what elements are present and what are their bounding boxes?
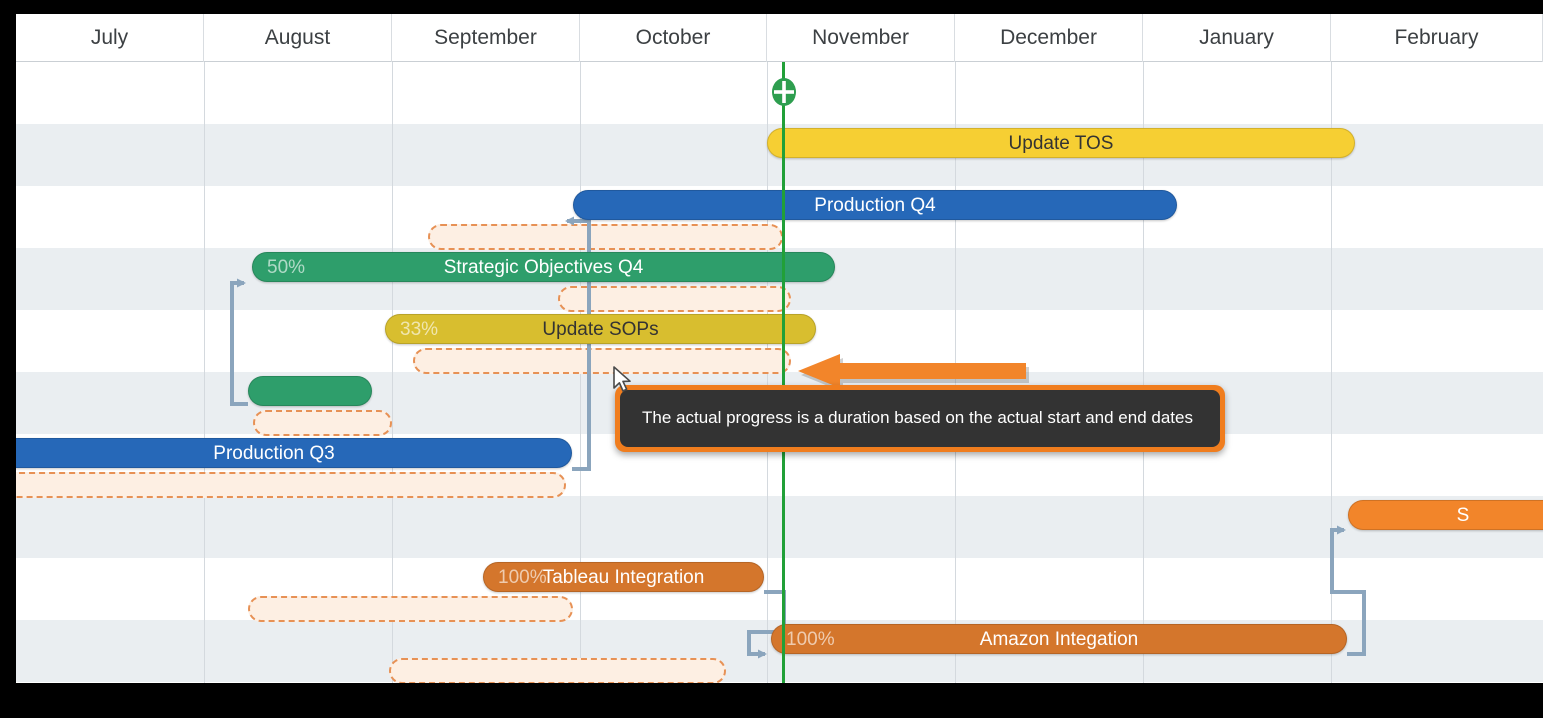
month-header-august[interactable]: August: [204, 14, 392, 62]
task-bar-label: Strategic Objectives Q4: [253, 253, 834, 283]
task-bar-label: S: [1349, 501, 1543, 531]
column-gridline-1: [392, 62, 393, 683]
gantt-grid-body[interactable]: Update TOSProduction Q450%Strategic Obje…: [16, 62, 1543, 683]
baseline-bar[interactable]: [16, 472, 566, 498]
task-bar-production-q3[interactable]: Production Q3: [16, 438, 572, 468]
month-header-january[interactable]: January: [1143, 14, 1331, 62]
progress-label: 100%: [498, 563, 547, 593]
task-bar-amazon-integation[interactable]: 100%Amazon Integation: [771, 624, 1347, 654]
month-header-july[interactable]: July: [16, 14, 204, 62]
progress-label: 50%: [267, 253, 305, 283]
baseline-bar[interactable]: [248, 596, 573, 622]
task-bar-tableau-integration[interactable]: 100%Tableau Integration: [483, 562, 764, 592]
gantt-row[interactable]: [16, 496, 1543, 558]
progress-label: 33%: [400, 315, 438, 345]
today-line: [782, 62, 785, 683]
month-header-november[interactable]: November: [767, 14, 955, 62]
baseline-bar[interactable]: [558, 286, 791, 312]
task-bar-label: Update SOPs: [386, 315, 815, 345]
task-bar-unnamed-green-task[interactable]: [248, 376, 372, 406]
circle-plus-icon: [771, 77, 797, 107]
task-bar-strategic-objectives-q4[interactable]: 50%Strategic Objectives Q4: [252, 252, 835, 282]
task-bar-label: Amazon Integation: [772, 625, 1346, 655]
task-bar-update-tos[interactable]: Update TOS: [767, 128, 1355, 158]
task-bar-label: Update TOS: [768, 129, 1354, 159]
timeline-month-header: JulyAugustSeptemberOctoberNovemberDecemb…: [16, 14, 1543, 62]
task-bar-update-sops[interactable]: 33%Update SOPs: [385, 314, 816, 344]
baseline-bar[interactable]: [389, 658, 726, 683]
tooltip-text: The actual progress is a duration based …: [620, 390, 1220, 447]
month-header-february[interactable]: February: [1331, 14, 1543, 62]
task-bar-label: Production Q4: [574, 191, 1176, 221]
month-header-september[interactable]: September: [392, 14, 580, 62]
screenshot-stage: JulyAugustSeptemberOctoberNovemberDecemb…: [0, 0, 1543, 718]
task-bar-right-orange-task[interactable]: S: [1348, 500, 1543, 530]
task-bar-label: Tableau Integration: [484, 563, 763, 593]
column-gridline-0: [204, 62, 205, 683]
task-bar-label: Production Q3: [16, 439, 571, 469]
task-bar-production-q4[interactable]: Production Q4: [573, 190, 1177, 220]
gantt-row[interactable]: [16, 558, 1543, 620]
month-header-december[interactable]: December: [955, 14, 1143, 62]
baseline-bar[interactable]: [428, 224, 783, 250]
today-marker-handle[interactable]: [771, 77, 797, 107]
gantt-chart-panel[interactable]: JulyAugustSeptemberOctoberNovemberDecemb…: [16, 14, 1543, 683]
baseline-bar[interactable]: [413, 348, 791, 374]
progress-label: 100%: [786, 625, 835, 655]
baseline-bar[interactable]: [253, 410, 392, 436]
month-header-october[interactable]: October: [580, 14, 767, 62]
tooltip-callout: The actual progress is a duration based …: [615, 385, 1225, 452]
